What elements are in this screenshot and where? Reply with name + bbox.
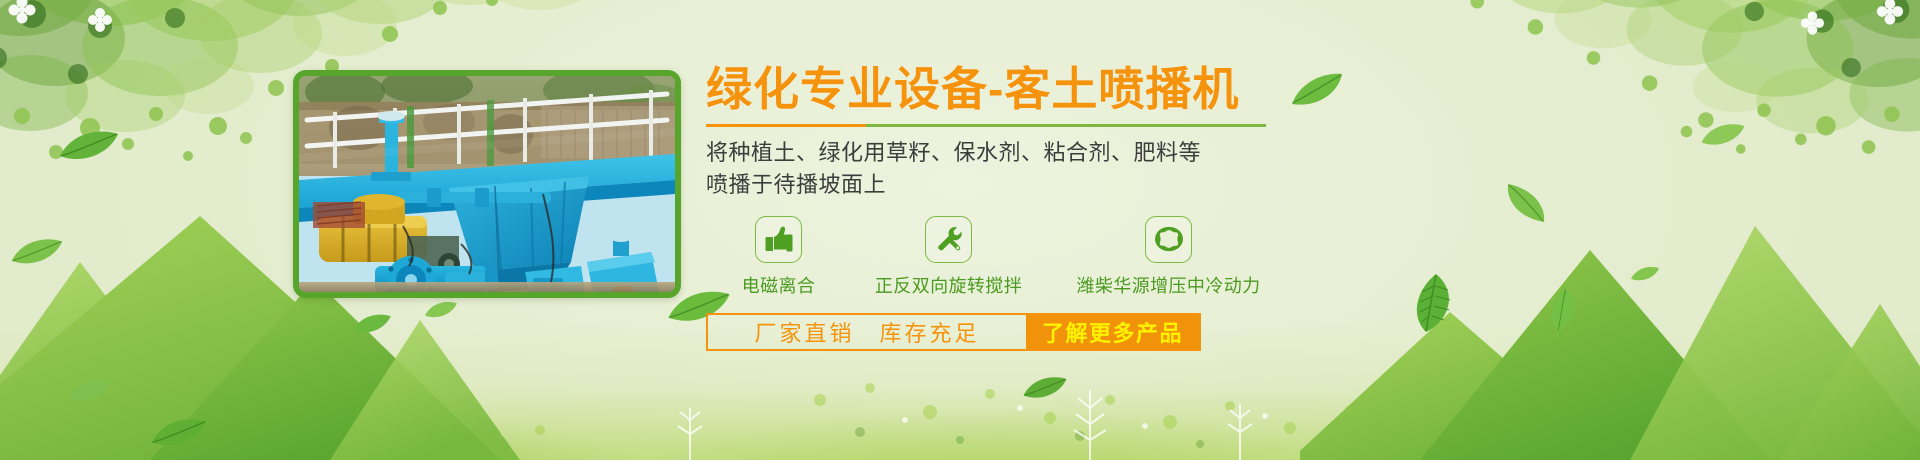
- product-photo-frame[interactable]: [293, 70, 681, 298]
- banner-content: 绿化专业设备-客土喷播机 将种植土、绿化用草籽、保水剂、粘合剂、肥料等 喷播于待…: [706, 62, 1806, 351]
- feature-label: 正反双向旋转搅拌: [875, 272, 1022, 298]
- thumbs-up-icon: [755, 216, 802, 263]
- divider-orange-segment: [706, 124, 866, 127]
- tools-icon: [925, 216, 972, 263]
- leaf-icon: [68, 378, 112, 404]
- subtitle-line-1: 将种植土、绿化用草籽、保水剂、粘合剂、肥料等: [706, 137, 1278, 168]
- cta-slogan: 厂家直销 库存充足: [708, 315, 1026, 349]
- white-flowers: [0, 0, 186, 61]
- leaf-icon: [352, 312, 392, 336]
- leaf-icon: [1022, 374, 1068, 402]
- learn-more-button[interactable]: 了解更多产品: [1026, 315, 1199, 349]
- cta-bar: 厂家直销 库存充足 了解更多产品: [706, 313, 1201, 351]
- gear-icon: [1145, 216, 1192, 263]
- leaf-icon: [10, 236, 64, 268]
- leaf-icon: [424, 300, 458, 320]
- feature-item-donli[interactable]: 潍柴华源增压中冷动力: [1046, 216, 1291, 298]
- subtitle-line-2: 喷播于待播坡面上: [706, 169, 1278, 200]
- divider-green-segment: [866, 124, 1266, 127]
- white-flowers: [1720, 0, 1920, 57]
- leaf-icon: [150, 416, 208, 450]
- subtitle: 将种植土、绿化用草籽、保水剂、粘合剂、肥料等 喷播于待播坡面上: [706, 137, 1278, 199]
- feature-label: 电磁离合: [742, 272, 816, 298]
- feature-item-dianciliheo[interactable]: 电磁离合: [706, 216, 851, 298]
- feature-label: 潍柴华源增压中冷动力: [1077, 272, 1261, 298]
- title-divider: [706, 124, 1266, 127]
- promo-banner: 绿化专业设备-客土喷播机 将种植土、绿化用草籽、保水剂、粘合剂、肥料等 喷播于待…: [0, 0, 1920, 460]
- page-title: 绿化专业设备-客土喷播机: [706, 62, 1806, 116]
- product-photo: [299, 76, 675, 292]
- leaf-icon: [58, 128, 120, 164]
- feature-item-jiaoban[interactable]: 正反双向旋转搅拌: [851, 216, 1046, 298]
- feature-list: 电磁离合 正反双向旋转搅拌: [706, 216, 1806, 298]
